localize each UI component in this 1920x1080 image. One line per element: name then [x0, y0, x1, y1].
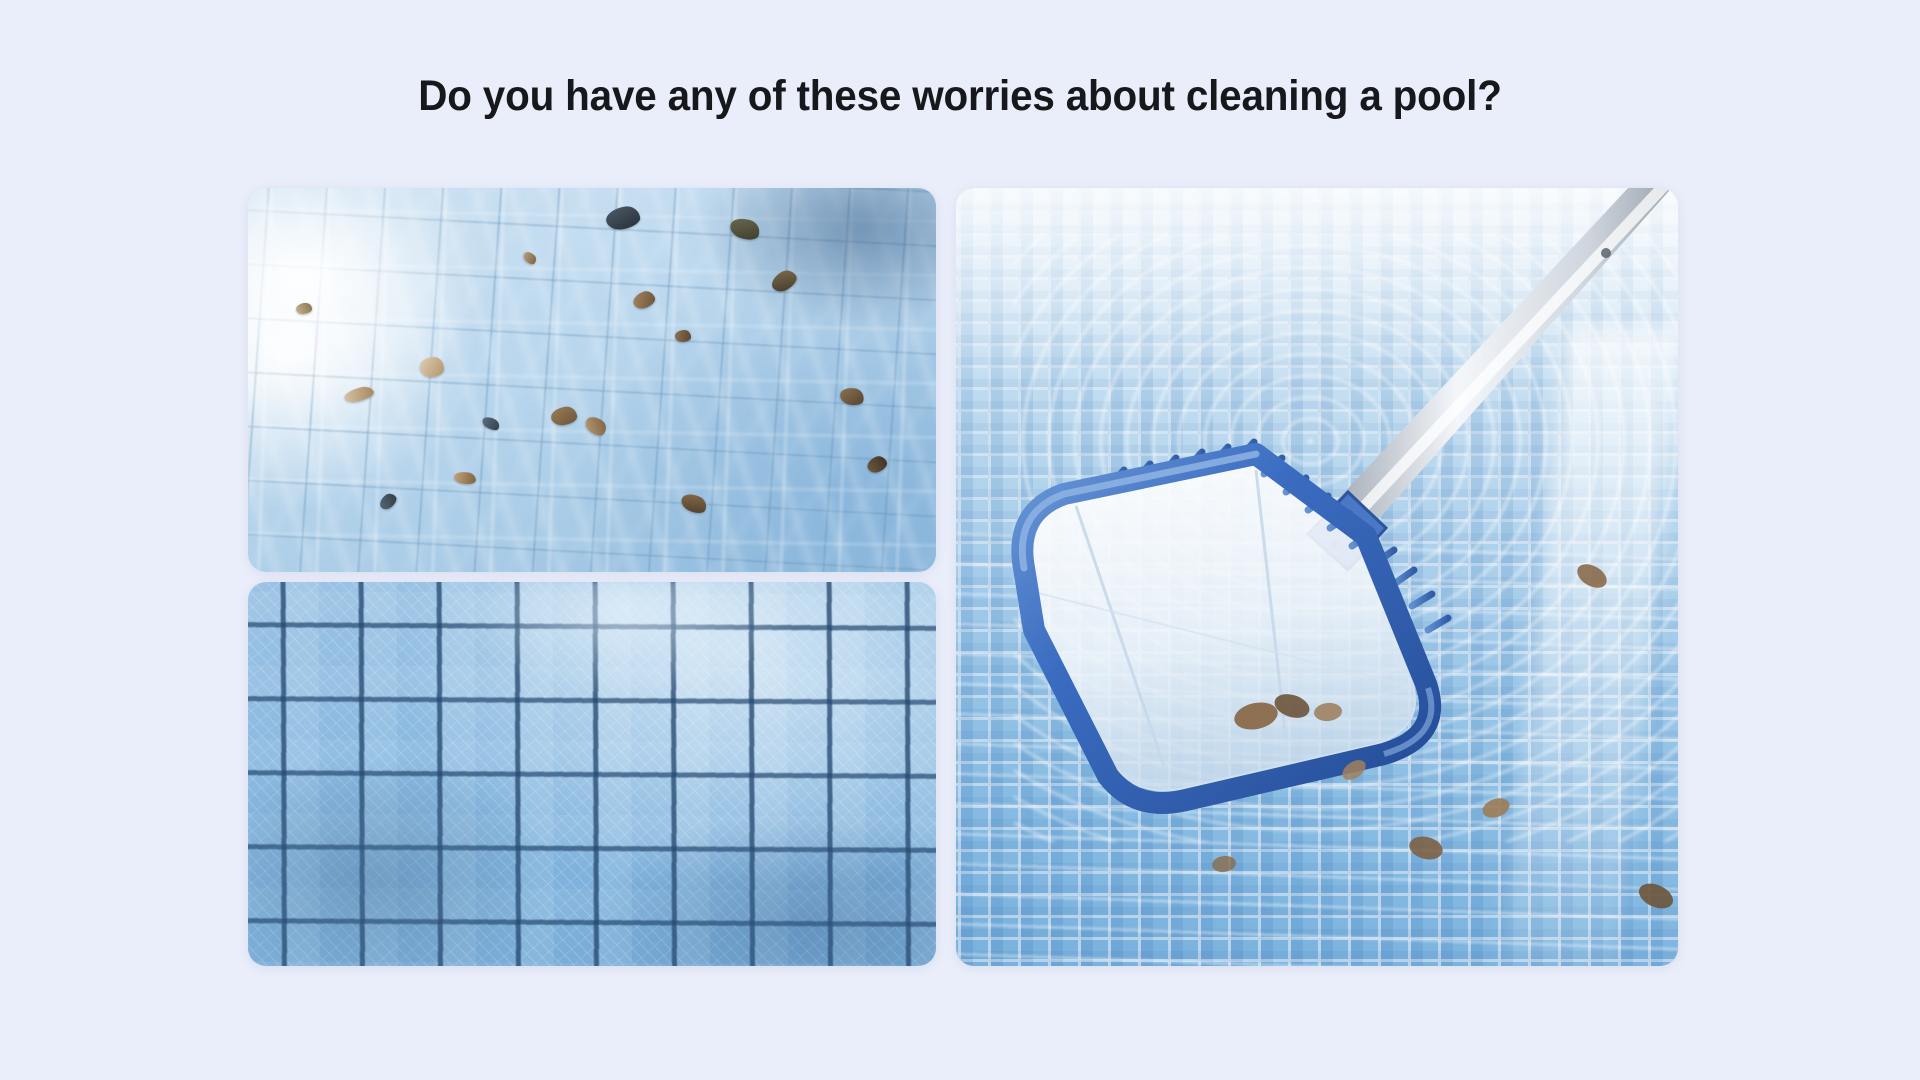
pool-skimmer-net-icon [956, 188, 1678, 966]
card-debris[interactable]: 01. There is debris in the pool [248, 188, 936, 572]
pool-debris-image [248, 188, 936, 572]
card-dirty-bottom[interactable]: 02. The bottom of the pool is dirty and … [248, 582, 936, 966]
page-title: Do you have any of these worries about c… [58, 72, 1863, 121]
poster-canvas: Do you have any of these worries about c… [0, 0, 1920, 1080]
pool-skimmer-image [956, 188, 1678, 966]
debris-leaf [420, 357, 444, 377]
debris-leaf [675, 330, 691, 342]
pool-tile-image [248, 582, 936, 966]
card-manual-cleaning[interactable]: 03. Manual cleaning is time-consuming an… [956, 188, 1678, 966]
